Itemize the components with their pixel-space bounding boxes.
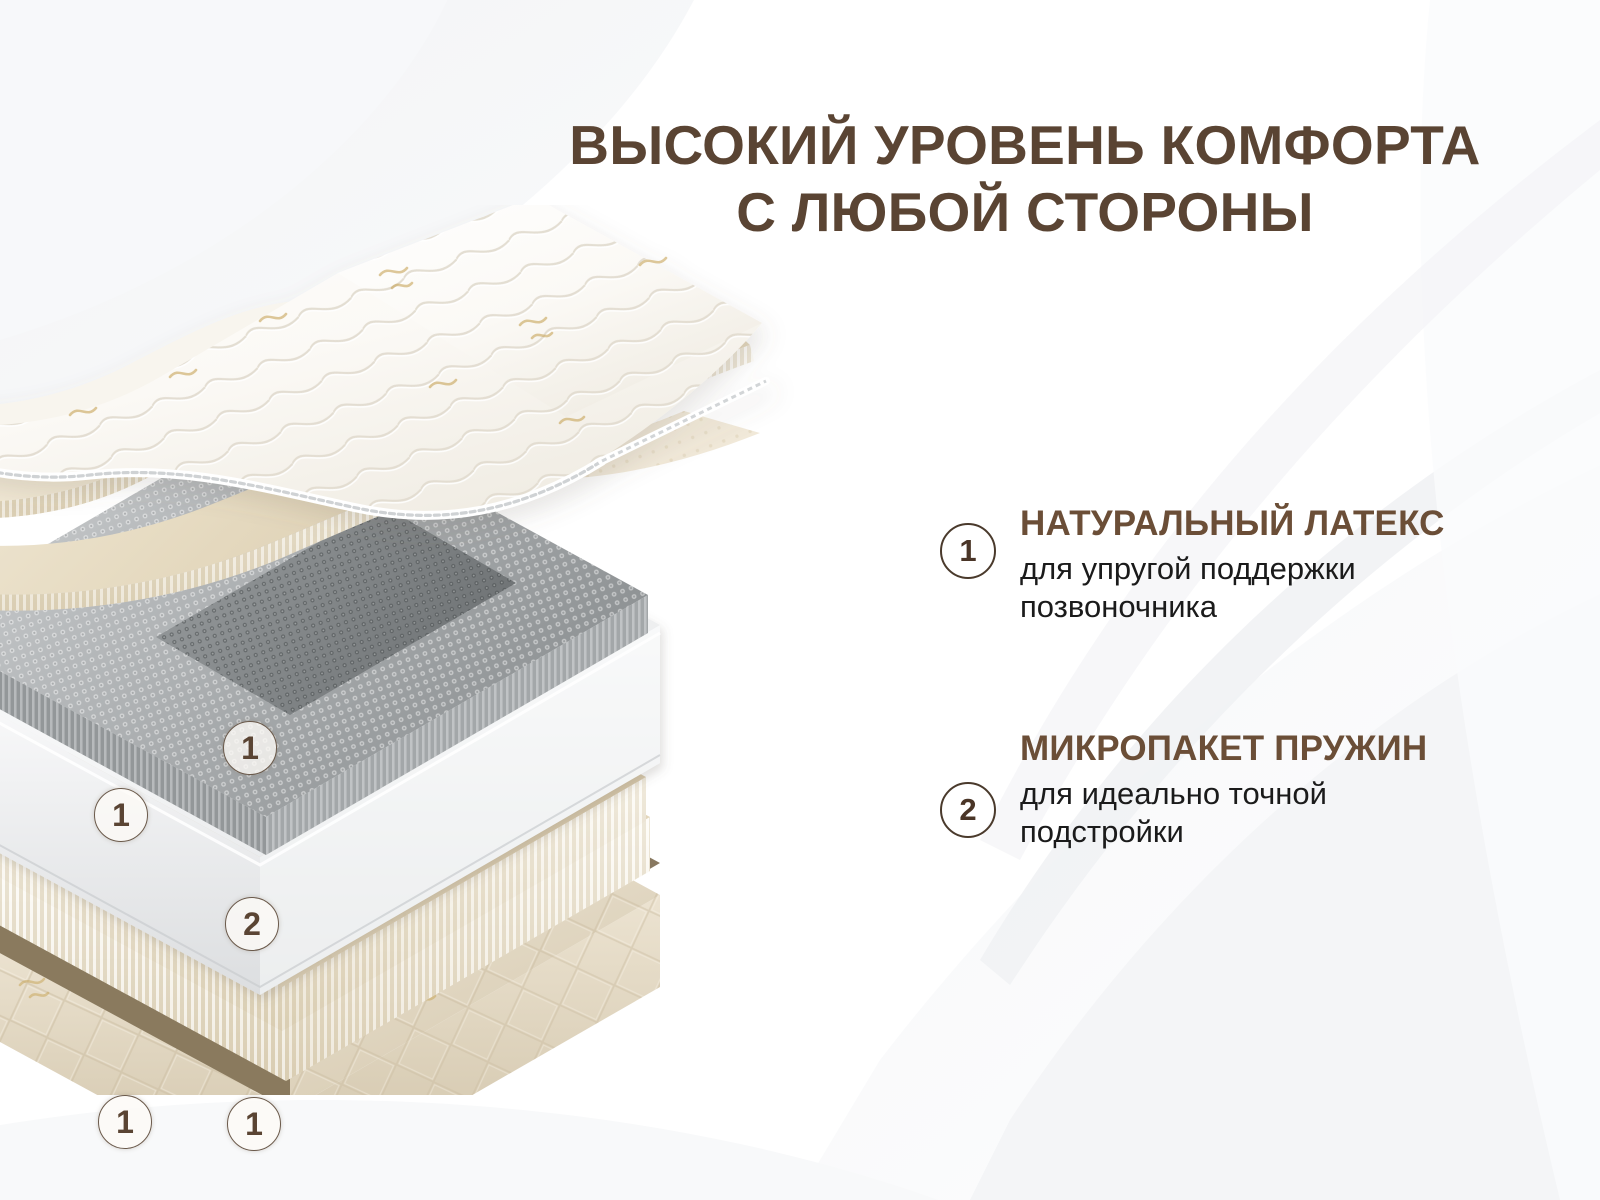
legend-badge-2-icon: 2 bbox=[940, 782, 996, 838]
legend-subtitle-2-line-1: для идеально точной bbox=[1020, 775, 1500, 814]
legend-subtitle-1-line-2: позвоночника bbox=[1020, 588, 1500, 627]
mattress-badge-1-bottom-right[interactable]: 1 bbox=[227, 1097, 281, 1151]
legend-item-micro-spring-pack: 2 МИКРОПАКЕТ ПРУЖИН для идеально точной … bbox=[940, 730, 1500, 852]
layer-right-edge-stack bbox=[766, 381, 856, 457]
legend-subtitle-1-line-1: для упругой поддержки bbox=[1020, 550, 1500, 589]
mattress-badge-1-bottom-left[interactable]: 1 bbox=[98, 1095, 152, 1149]
legend-subtitle-2-line-2: подстройки bbox=[1020, 813, 1500, 852]
legend-title-2: МИКРОПАКЕТ ПРУЖИН bbox=[1020, 730, 1500, 769]
mattress-badge-2-micro-spring[interactable]: 2 bbox=[225, 897, 279, 951]
legend-title-1: НАТУРАЛЬНЫЙ ЛАТЕКС bbox=[1020, 505, 1500, 544]
mattress-badge-1-top-latex[interactable]: 1 bbox=[223, 721, 277, 775]
legend-text-block-1: НАТУРАЛЬНЫЙ ЛАТЕКС для упругой поддержки… bbox=[1020, 505, 1500, 627]
legend-subtitle-1: для упругой поддержки позвоночника bbox=[1020, 550, 1500, 628]
headline-line-1: ВЫСОКИЙ УРОВЕНЬ КОМФОРТА bbox=[569, 114, 1480, 176]
legend-item-natural-latex: 1 НАТУРАЛЬНЫЙ ЛАТЕКС для упругой поддерж… bbox=[940, 505, 1500, 627]
legend-subtitle-2: для идеально точной подстройки bbox=[1020, 775, 1500, 853]
legend-badge-1-icon: 1 bbox=[940, 523, 996, 579]
mattress-cutaway-illustration: 1 1 2 1 1 bbox=[0, 205, 860, 1095]
infographic-canvas: ВЫСОКИЙ УРОВЕНЬ КОМФОРТА С ЛЮБОЙ СТОРОНЫ bbox=[0, 0, 1600, 1200]
mattress-badge-1-second-latex[interactable]: 1 bbox=[94, 788, 148, 842]
legend-text-block-2: МИКРОПАКЕТ ПРУЖИН для идеально точной по… bbox=[1020, 730, 1500, 852]
